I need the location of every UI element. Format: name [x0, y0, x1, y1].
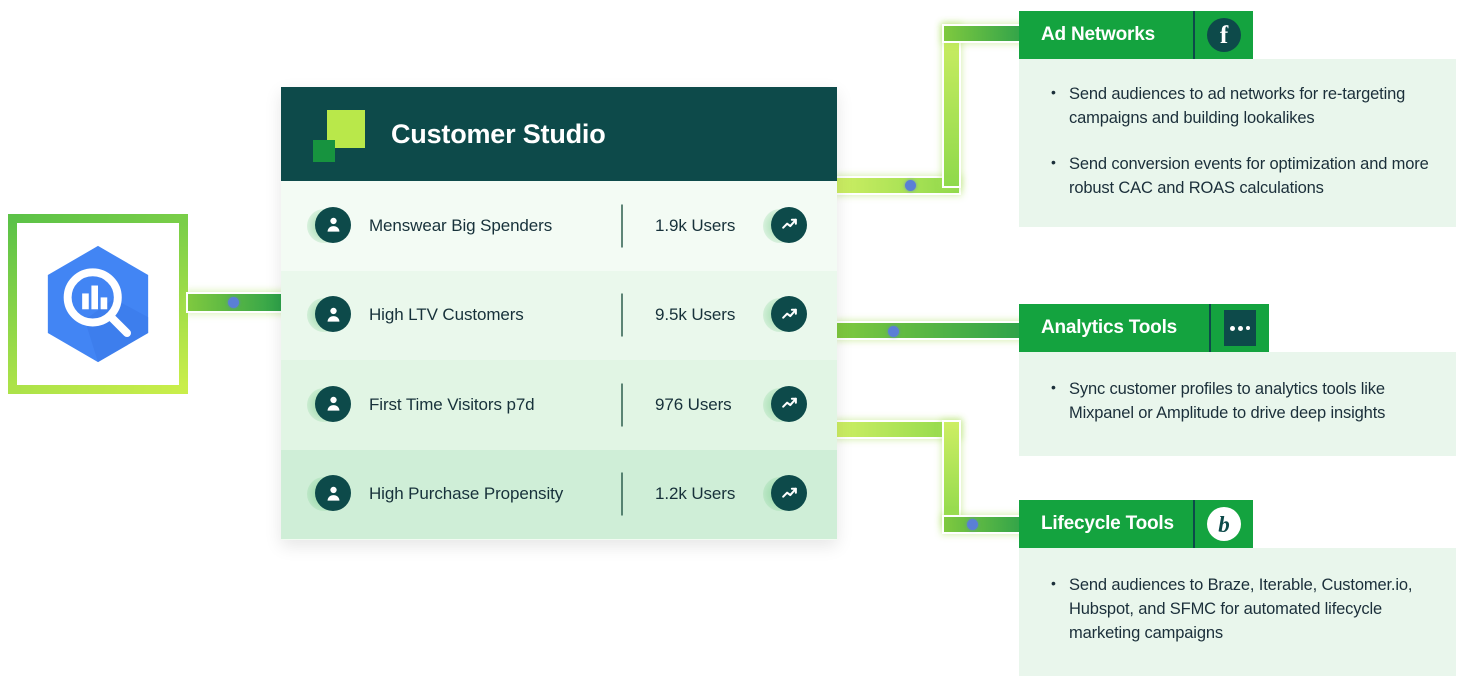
connector-dot — [967, 519, 978, 530]
audience-row[interactable]: High LTV Customers 9.5k Users — [281, 271, 837, 361]
audience-row[interactable]: Menswear Big Spenders 1.9k Users — [281, 181, 837, 271]
destination-bullets: Send audiences to ad networks for re-tar… — [1049, 83, 1430, 201]
bigquery-hexagon-icon — [32, 238, 164, 370]
destination-title: Analytics Tools — [1019, 304, 1209, 352]
audience-user-count: 1.2k Users — [655, 484, 735, 504]
list-item: Send conversion events for optimization … — [1049, 153, 1430, 201]
audience-user-count: 1.9k Users — [655, 216, 735, 236]
customer-studio-squares-logo — [313, 106, 365, 162]
connector-studio-to-analytics-tools — [837, 320, 1027, 342]
page-title: Customer Studio — [391, 119, 606, 150]
destination-analytics-tools: Analytics Tools Sync customer profiles t… — [1019, 304, 1456, 456]
audience-user-count: 9.5k Users — [655, 305, 735, 325]
destination-ad-networks: Ad Networks f Send audiences to ad netwo… — [1019, 11, 1456, 227]
destination-header[interactable]: Ad Networks f — [1019, 11, 1253, 59]
mixpanel-dots-icon[interactable] — [1211, 304, 1269, 352]
list-item: Send audiences to ad networks for re-tar… — [1049, 83, 1430, 131]
audience-name: High Purchase Propensity — [369, 484, 563, 504]
braze-icon[interactable]: b — [1195, 500, 1253, 548]
person-icon — [307, 294, 353, 336]
destination-body: Sync customer profiles to analytics tool… — [1019, 352, 1456, 456]
list-item: Sync customer profiles to analytics tool… — [1049, 378, 1430, 426]
audience-user-count: 976 Users — [655, 395, 732, 415]
connector-dot — [905, 180, 916, 191]
trend-up-icon[interactable] — [763, 205, 809, 247]
person-icon — [307, 473, 353, 515]
destination-header[interactable]: Lifecycle Tools b — [1019, 500, 1253, 548]
trend-up-icon[interactable] — [763, 294, 809, 336]
customer-studio-header: Customer Studio — [281, 87, 837, 181]
destination-header[interactable]: Analytics Tools — [1019, 304, 1269, 352]
destination-bullets: Send audiences to Braze, Iterable, Custo… — [1049, 574, 1430, 646]
row-divider — [621, 294, 623, 337]
connector-studio-to-ad-networks — [837, 18, 1027, 193]
row-divider — [621, 204, 623, 247]
connector-source-to-studio — [188, 290, 283, 316]
trend-up-icon[interactable] — [763, 384, 809, 426]
connector-dot — [888, 326, 899, 337]
audience-row[interactable]: First Time Visitors p7d 976 Users — [281, 360, 837, 450]
bigquery-logo-wrap — [17, 223, 179, 385]
audience-name: Menswear Big Spenders — [369, 216, 552, 236]
bigquery-source-node[interactable] — [8, 214, 188, 394]
connector-dot — [228, 297, 239, 308]
audience-row[interactable]: High Purchase Propensity 1.2k Users — [281, 450, 837, 540]
destination-body: Send audiences to Braze, Iterable, Custo… — [1019, 548, 1456, 676]
diagram-canvas: Customer Studio Menswear Big Spenders 1.… — [0, 0, 1466, 682]
person-icon — [307, 205, 353, 247]
list-item: Send audiences to Braze, Iterable, Custo… — [1049, 574, 1430, 646]
connector-studio-to-lifecycle-tools — [837, 422, 1027, 537]
row-divider — [621, 383, 623, 426]
facebook-icon[interactable]: f — [1195, 11, 1253, 59]
person-icon — [307, 384, 353, 426]
customer-studio-card: Customer Studio Menswear Big Spenders 1.… — [281, 87, 837, 540]
row-divider — [621, 473, 623, 516]
audience-name: High LTV Customers — [369, 305, 524, 325]
destination-title: Ad Networks — [1019, 11, 1193, 59]
destination-title: Lifecycle Tools — [1019, 500, 1193, 548]
destination-lifecycle-tools: Lifecycle Tools b Send audiences to Braz… — [1019, 500, 1456, 676]
destination-body: Send audiences to ad networks for re-tar… — [1019, 59, 1456, 227]
audience-name: First Time Visitors p7d — [369, 395, 535, 415]
destination-bullets: Sync customer profiles to analytics tool… — [1049, 378, 1430, 426]
trend-up-icon[interactable] — [763, 473, 809, 515]
